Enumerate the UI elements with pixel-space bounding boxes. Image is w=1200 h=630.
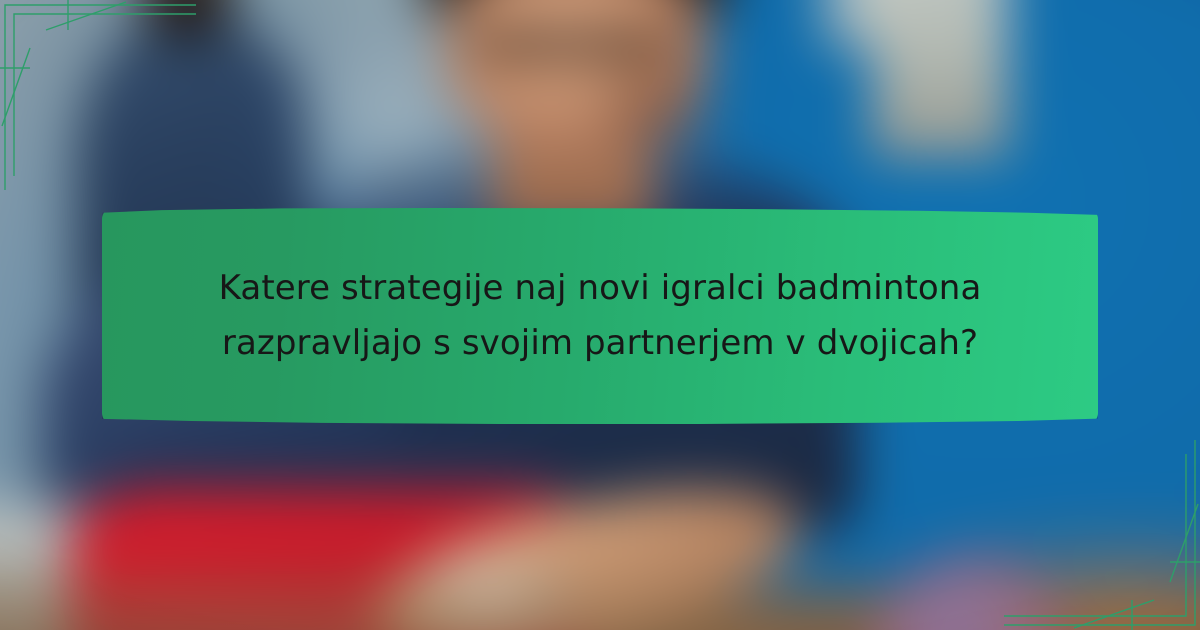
question-card: Katere strategije naj novi igralci badmi… [102, 208, 1098, 424]
question-text: Katere strategije naj novi igralci badmi… [170, 261, 1030, 371]
foreground-player-cheek-shadow [586, 54, 722, 165]
social-card-canvas: Katere strategije naj novi igralci badmi… [0, 0, 1200, 630]
background-window [872, 0, 1008, 157]
